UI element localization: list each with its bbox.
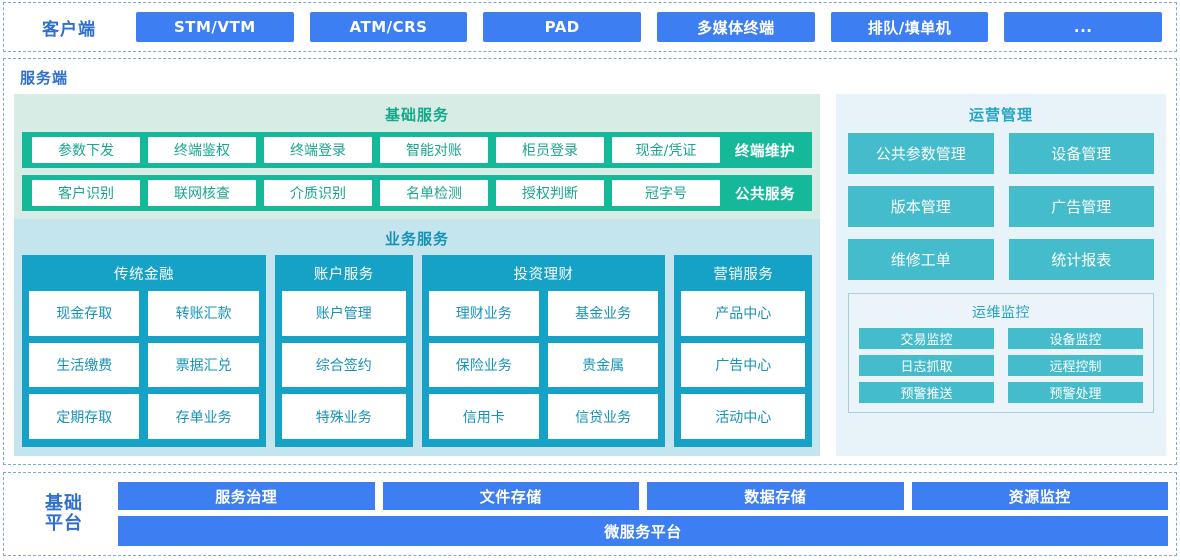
basic-chip-terminal-login[interactable]: 终端登录	[264, 137, 372, 163]
platform-chip-data-storage[interactable]: 数据存储	[647, 482, 904, 510]
basic-chip-teller-login[interactable]: 柜员登录	[496, 137, 604, 163]
platform-title-line-2: 平台	[10, 514, 118, 534]
business-column-traditional-finance: 传统金融 现金存取 转账汇款 生活缴费 票据汇兑	[22, 255, 266, 447]
operations-monitoring-panel: 运维监控 交易监控 设备监控 日志抓取 远程控制 预警推送 预警处理	[848, 293, 1154, 413]
basic-chip-list-detection[interactable]: 名单检测	[380, 180, 488, 206]
business-services-panel: 业务服务 传统金融 现金存取 转账汇款 生活缴费	[14, 219, 820, 456]
basic-chip-smart-reconciliation[interactable]: 智能对账	[380, 137, 488, 163]
business-grid-row: 广告中心	[681, 343, 805, 388]
business-grid-row: 保险业务 贵金属	[429, 343, 659, 388]
biz-chip-insurance-business[interactable]: 保险业务	[429, 343, 539, 388]
mon-chip-remote-control[interactable]: 远程控制	[1008, 355, 1143, 376]
biz-chip-credit-loan-business[interactable]: 信贷业务	[548, 394, 658, 439]
basic-chip-terminal-auth[interactable]: 终端鉴权	[148, 137, 256, 163]
ops-chip-version-management[interactable]: 版本管理	[848, 186, 994, 227]
biz-chip-wealth-management[interactable]: 理财业务	[429, 291, 539, 336]
basic-services-heading: 基础服务	[22, 100, 812, 132]
operations-grid: 公共参数管理 设备管理 版本管理 广告管理 维修工单 统计报表	[848, 133, 1154, 280]
platform-layer: 基础 平台 服务治理 文件存储 数据存储 资源监控 微服务平台	[3, 472, 1177, 556]
basic-chip-customer-recognition[interactable]: 客户识别	[32, 180, 140, 206]
monitoring-grid: 交易监控 设备监控 日志抓取 远程控制 预警推送 预警处理	[859, 328, 1143, 403]
operations-management-panel: 运营管理 公共参数管理 设备管理 版本管理 广告管理 维修工单 统计报表	[836, 94, 1166, 456]
mon-chip-alert-push[interactable]: 预警推送	[859, 382, 994, 403]
client-chip-multimedia-terminal[interactable]: 多媒体终端	[657, 12, 815, 42]
platform-chip-resource-monitoring[interactable]: 资源监控	[912, 482, 1169, 510]
basic-chip-param-dispatch[interactable]: 参数下发	[32, 137, 140, 163]
client-chip-more[interactable]: ...	[1004, 12, 1162, 42]
basic-chip-media-recognition[interactable]: 介质识别	[264, 180, 372, 206]
business-column-account-services: 账户服务 账户管理 综合签约 特殊业务	[275, 255, 413, 447]
business-grid-row: 账户管理	[282, 291, 406, 336]
basic-chip-online-verification[interactable]: 联网核查	[148, 180, 256, 206]
biz-chip-comprehensive-signing[interactable]: 综合签约	[282, 343, 406, 388]
operations-monitoring-heading: 运维监控	[859, 299, 1143, 328]
business-column-grid: 账户管理 综合签约 特殊业务	[282, 291, 406, 439]
business-grid-row: 活动中心	[681, 394, 805, 439]
platform-chip-microservice-platform[interactable]: 微服务平台	[118, 516, 1168, 546]
basic-chip-authorization-judgement[interactable]: 授权判断	[496, 180, 604, 206]
business-grid-row: 生活缴费 票据汇兑	[29, 343, 259, 388]
platform-chip-service-governance[interactable]: 服务治理	[118, 482, 375, 510]
business-grid-row: 特殊业务	[282, 394, 406, 439]
biz-chip-special-business[interactable]: 特殊业务	[282, 394, 406, 439]
operations-row: 版本管理 广告管理	[848, 186, 1154, 227]
terminal-maintenance-label: 终端维护	[724, 140, 806, 161]
client-chip-queue-form-machine[interactable]: 排队/填单机	[831, 12, 989, 42]
server-body: 基础服务 参数下发 终端鉴权 终端登录 智能对账 柜员登录 现金/凭证 终端维护…	[14, 94, 1166, 456]
business-column-title: 营销服务	[681, 260, 805, 291]
ops-chip-device-management[interactable]: 设备管理	[1009, 133, 1155, 174]
server-layer-title: 服务端	[20, 67, 1166, 88]
biz-chip-cash-deposit-withdraw[interactable]: 现金存取	[29, 291, 139, 336]
biz-chip-transfer-remittance[interactable]: 转账汇款	[148, 291, 258, 336]
biz-chip-activity-center[interactable]: 活动中心	[681, 394, 805, 439]
biz-chip-living-payment[interactable]: 生活缴费	[29, 343, 139, 388]
biz-chip-precious-metals[interactable]: 贵金属	[548, 343, 658, 388]
mon-chip-transaction-monitoring[interactable]: 交易监控	[859, 328, 994, 349]
business-column-grid: 产品中心 广告中心 活动中心	[681, 291, 805, 439]
mon-chip-alert-handling[interactable]: 预警处理	[1008, 382, 1143, 403]
ops-chip-public-param-management[interactable]: 公共参数管理	[848, 133, 994, 174]
business-column-marketing-services: 营销服务 产品中心 广告中心 活动中心	[674, 255, 812, 447]
operations-management-heading: 运营管理	[848, 100, 1154, 133]
biz-chip-fund-business[interactable]: 基金业务	[548, 291, 658, 336]
business-column-grid: 现金存取 转账汇款 生活缴费 票据汇兑 定期存取 存单业务	[29, 291, 259, 439]
ops-chip-repair-work-order[interactable]: 维修工单	[848, 239, 994, 280]
client-chip-atm-crs[interactable]: ATM/CRS	[310, 12, 468, 42]
biz-chip-certificate-deposit[interactable]: 存单业务	[148, 394, 258, 439]
ops-chip-advertisement-management[interactable]: 广告管理	[1009, 186, 1155, 227]
business-column-title: 账户服务	[282, 260, 406, 291]
client-chip-stm-vtm[interactable]: STM/VTM	[136, 12, 294, 42]
terminal-maintenance-row: 参数下发 终端鉴权 终端登录 智能对账 柜员登录 现金/凭证 终端维护	[22, 132, 812, 168]
business-column-title: 传统金融	[29, 260, 259, 291]
client-chip-pad[interactable]: PAD	[483, 12, 641, 42]
architecture-diagram: 客户端 STM/VTM ATM/CRS PAD 多媒体终端 排队/填单机 ...…	[0, 0, 1180, 560]
business-column-title: 投资理财	[429, 260, 659, 291]
business-column-grid: 理财业务 基金业务 保险业务 贵金属 信用卡 信贷业务	[429, 291, 659, 439]
biz-chip-product-center[interactable]: 产品中心	[681, 291, 805, 336]
monitoring-row: 交易监控 设备监控	[859, 328, 1143, 349]
public-services-label: 公共服务	[724, 183, 806, 204]
mon-chip-device-monitoring[interactable]: 设备监控	[1008, 328, 1143, 349]
ops-chip-statistical-report[interactable]: 统计报表	[1009, 239, 1155, 280]
business-grid-row: 定期存取 存单业务	[29, 394, 259, 439]
biz-chip-advertising-center[interactable]: 广告中心	[681, 343, 805, 388]
services-column: 基础服务 参数下发 终端鉴权 终端登录 智能对账 柜员登录 现金/凭证 终端维护…	[14, 94, 820, 456]
operations-row: 维修工单 统计报表	[848, 239, 1154, 280]
basic-chip-cash-voucher[interactable]: 现金/凭证	[612, 137, 720, 163]
mon-chip-log-capture[interactable]: 日志抓取	[859, 355, 994, 376]
monitoring-row: 预警推送 预警处理	[859, 382, 1143, 403]
business-column-investment-wealth: 投资理财 理财业务 基金业务 保险业务 贵金属	[422, 255, 666, 447]
biz-chip-credit-card[interactable]: 信用卡	[429, 394, 539, 439]
business-grid-row: 产品中心	[681, 291, 805, 336]
business-services-heading: 业务服务	[22, 224, 812, 255]
platform-chip-row: 服务治理 文件存储 数据存储 资源监控	[118, 482, 1168, 510]
client-layer: 客户端 STM/VTM ATM/CRS PAD 多媒体终端 排队/填单机 ...	[3, 2, 1177, 52]
business-grid-row: 综合签约	[282, 343, 406, 388]
platform-layer-title: 基础 平台	[10, 494, 118, 534]
platform-content: 服务治理 文件存储 数据存储 资源监控 微服务平台	[118, 482, 1168, 546]
client-layer-title: 客户端	[10, 15, 128, 40]
business-grid-row: 信用卡 信贷业务	[429, 394, 659, 439]
monitoring-row: 日志抓取 远程控制	[859, 355, 1143, 376]
business-grid-row: 现金存取 转账汇款	[29, 291, 259, 336]
public-services-row: 客户识别 联网核查 介质识别 名单检测 授权判断 冠字号 公共服务	[22, 175, 812, 211]
operations-row: 公共参数管理 设备管理	[848, 133, 1154, 174]
business-services-columns: 传统金融 现金存取 转账汇款 生活缴费 票据汇兑	[22, 255, 812, 447]
platform-chip-file-storage[interactable]: 文件存储	[383, 482, 640, 510]
biz-chip-term-deposit[interactable]: 定期存取	[29, 394, 139, 439]
biz-chip-account-management[interactable]: 账户管理	[282, 291, 406, 336]
basic-chip-crown-number[interactable]: 冠字号	[612, 180, 720, 206]
biz-chip-bill-exchange[interactable]: 票据汇兑	[148, 343, 258, 388]
basic-services-panel: 基础服务 参数下发 终端鉴权 终端登录 智能对账 柜员登录 现金/凭证 终端维护…	[14, 94, 820, 219]
platform-title-line-1: 基础	[10, 494, 118, 514]
business-grid-row: 理财业务 基金业务	[429, 291, 659, 336]
server-layer: 服务端 基础服务 参数下发 终端鉴权 终端登录 智能对账 柜员登录 现金/凭证 …	[3, 58, 1177, 465]
